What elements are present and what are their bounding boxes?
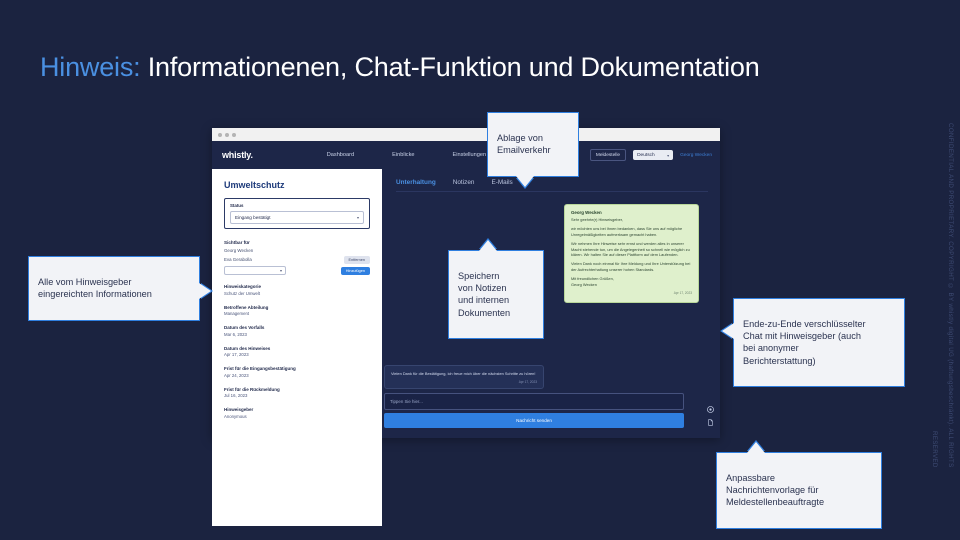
conversation-panel: Unterhaltung Notizen E-Mails Georg Wecke… (382, 169, 720, 438)
field-label: Datum des Hinweises (224, 346, 370, 351)
add-person-row: ▾ Hinzufügen (224, 266, 370, 275)
callout-tail (199, 283, 211, 299)
nav-links: Dashboard Einblicke Einstellungen (327, 152, 486, 158)
callout-anpassbare-vorlage: Anpassbare Nachrichtenvorlage für Meldes… (716, 452, 882, 529)
window-maximize-icon[interactable] (232, 133, 236, 137)
field-value: Management (224, 311, 370, 316)
visible-person-2: Eva Gerabolla (224, 257, 252, 262)
callout-speichern-notizen: Speichern von Notizen und internen Dokum… (448, 250, 544, 339)
chevron-down-icon: ▾ (667, 153, 669, 158)
window-close-icon[interactable] (218, 133, 222, 137)
language-select-value: Deutsch (637, 153, 655, 158)
status-label: Status (230, 203, 364, 208)
document-icon[interactable] (707, 419, 714, 426)
nav-item-einstellungen[interactable]: Einstellungen (453, 152, 487, 158)
visible-person-1: Georg Wecken (224, 248, 370, 253)
field-label: Betroffene Abteilung (224, 305, 370, 310)
message-timestamp: Apr 17, 2023 (391, 380, 537, 384)
tab-unterhaltung[interactable]: Unterhaltung (396, 179, 436, 186)
status-select-value: Eingang bestätigt (235, 215, 271, 220)
callout-text: Ende-zu-Ende verschlüsselter Chat mit Hi… (743, 319, 866, 365)
field-value: Jul 16, 2023 (224, 393, 370, 398)
field-label: Datum des Vorfalls (224, 325, 370, 330)
callout-tail (479, 240, 497, 251)
case-title: Umweltschutz (224, 180, 370, 190)
callout-alle-informationen: Alle vom Hinweisgeber eingereichten Info… (28, 256, 200, 321)
add-person-button[interactable]: Hinzufügen (341, 267, 370, 275)
field-value: Apr 24, 2023 (224, 373, 370, 378)
field-datum-des-hinweises: Datum des Hinweises Apr 17, 2023 (224, 346, 370, 358)
callout-text: Ablage von Emailverkehr (497, 133, 551, 155)
field-value: Schutz der Umwelt (224, 291, 370, 296)
message-paragraph: wir möchten uns bei Ihnen bedanken, dass… (571, 226, 692, 237)
message-timestamp: Apr 17, 2023 (571, 291, 692, 295)
send-message-button[interactable]: Nachricht senden (384, 413, 684, 428)
visible-person-2-row: Eva Gerabolla Entfernen (224, 256, 370, 264)
field-betroffene-abteilung: Betroffene Abteilung Management (224, 305, 370, 317)
page-title-accent: Hinweis: (40, 52, 140, 82)
callout-text: Alle vom Hinweisgeber eingereichten Info… (38, 277, 152, 299)
message-composer: Tippen Sie hier... Nachricht senden (384, 393, 684, 428)
page-title-rest: Informationenen, Chat-Funktion und Dokum… (140, 52, 759, 82)
composer-side-icons (707, 406, 714, 426)
field-label: Hinweisgeber (224, 407, 370, 412)
callout-text: Anpassbare Nachrichtenvorlage für Meldes… (726, 473, 824, 507)
field-value: Anonymous (224, 414, 370, 419)
message-signature: Georg Wecken (571, 282, 692, 288)
message-text: Vielen Dank für die Bestätigung, ich fre… (391, 371, 537, 377)
field-label: Hinweiskategorie (224, 284, 370, 289)
chevron-down-icon: ▾ (280, 268, 282, 273)
language-select[interactable]: Deutsch ▾ (633, 150, 673, 160)
field-hinweisgeber: Hinweisgeber Anonymous (224, 407, 370, 419)
window-titlebar (212, 128, 720, 141)
callout-tail (722, 323, 734, 339)
callout-ende-zu-ende: Ende-zu-Ende verschlüsselter Chat mit Hi… (733, 298, 905, 387)
app-navbar: whistly. Dashboard Einblicke Einstellung… (212, 141, 720, 169)
window-minimize-icon[interactable] (225, 133, 229, 137)
callout-text: Speichern von Notizen und internen Dokum… (458, 271, 510, 317)
message-input[interactable]: Tippen Sie hier... (384, 393, 684, 410)
user-account-link[interactable]: Georg Wecken (680, 153, 712, 158)
remove-person-button[interactable]: Entfernen (344, 256, 370, 264)
conversation-tabs: Unterhaltung Notizen E-Mails (396, 179, 708, 192)
message-author: Georg Wecken (571, 210, 692, 215)
page-title: Hinweis: Informationenen, Chat-Funktion … (40, 52, 760, 83)
field-hinweiskategorie: Hinweiskategorie Schutz der Umwelt (224, 284, 370, 296)
message-greeting: Sehr geehrte(r) Hinweisgeber, (571, 217, 692, 223)
nav-right-group: Meldestelle Deutsch ▾ Georg Wecken (590, 149, 712, 161)
field-value: Mar 6, 2023 (224, 332, 370, 337)
field-value: Apr 17, 2023 (224, 352, 370, 357)
message-bubble-outgoing: Georg Wecken Sehr geehrte(r) Hinweisgebe… (564, 204, 699, 303)
tab-notizen[interactable]: Notizen (453, 179, 475, 186)
chevron-down-icon: ▾ (357, 215, 359, 220)
message-bubble-incoming: Vielen Dank für die Bestätigung, ich fre… (384, 365, 544, 389)
visible-for-label: Sichtbar für (224, 240, 370, 245)
message-paragraph: Wir nehmen Ihre Hinweise sehr ernst und … (571, 241, 692, 258)
message-paragraph: Vielen Dank noch einmal für Ihre Meldung… (571, 261, 692, 272)
settings-icon[interactable] (707, 406, 714, 413)
slide-canvas: Hinweis: Informationenen, Chat-Funktion … (0, 0, 960, 540)
app-logo[interactable]: whistly. (222, 150, 253, 160)
case-detail-panel: Umweltschutz Status Eingang bestätigt ▾ … (212, 169, 382, 526)
field-frist-eingangsbestaetigung: Frist für die Eingangsbestätigung Apr 24… (224, 366, 370, 378)
callout-ablage: Ablage von Emailverkehr (487, 112, 579, 177)
field-label: Frist für die Eingangsbestätigung (224, 366, 370, 371)
callout-tail (747, 442, 765, 453)
field-frist-rueckmeldung: Frist für die Rückmeldung Jul 16, 2023 (224, 387, 370, 399)
meldestelle-button[interactable]: Meldestelle (590, 149, 626, 161)
status-field-group: Status Eingang bestätigt ▾ (224, 198, 370, 229)
tab-emails[interactable]: E-Mails (491, 179, 512, 186)
nav-item-einblicke[interactable]: Einblicke (392, 152, 414, 158)
field-label: Frist für die Rückmeldung (224, 387, 370, 392)
status-select[interactable]: Eingang bestätigt ▾ (230, 211, 364, 224)
nav-item-dashboard[interactable]: Dashboard (327, 152, 354, 158)
copyright-notice: CONFIDENTIAL AND PROPRIETARY. COPYRIGHT … (942, 88, 958, 468)
add-person-select[interactable]: ▾ (224, 266, 286, 275)
callout-tail (516, 176, 534, 187)
field-datum-des-vorfalls: Datum des Vorfalls Mar 6, 2023 (224, 325, 370, 337)
